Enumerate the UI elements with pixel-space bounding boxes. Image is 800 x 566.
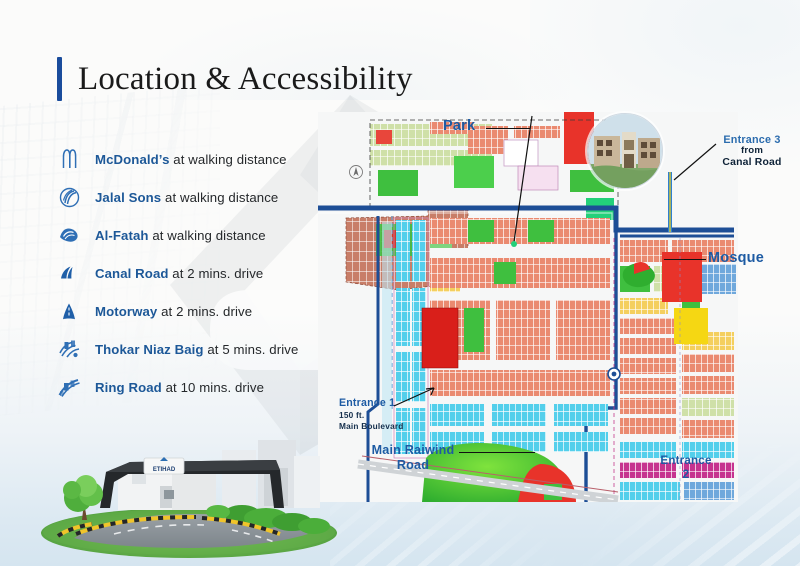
al-fatah-icon [57,223,81,247]
entrance2-line2: 2 [683,468,690,481]
map-label-main-raiwind-road: Main Raiwind Road [371,443,455,473]
page-title: Location & Accessibility [78,61,413,98]
canal-road-icon [57,261,81,285]
slide-canvas: Location & Accessibility McDonald’s at w… [0,0,800,566]
map-label-mosque: Mosque [708,250,764,266]
map-label-entrance-3: Entrance 3 from Canal Road [712,134,792,168]
thokar-niaz-baig-icon [57,337,81,361]
entrance2-line1: Entrance [660,454,711,467]
leader-line-mosque [664,259,706,260]
title-accent-bar [57,57,62,101]
list-item-label: Al-Fatah at walking distance [95,228,266,243]
map-label-park: Park [443,118,475,134]
leader-line-park [486,128,530,129]
list-item-label: Canal Road at 2 mins. drive [95,266,263,281]
entrance1-sub-line2: Main Boulevard [339,422,404,432]
leader-line-entrance-1 [394,386,438,412]
entrance-gate-render: ETIHAD [36,438,342,560]
motorway-icon [57,299,81,323]
ring-road-icon [57,375,81,399]
jalal-sons-icon [57,185,81,209]
mcdonalds-icon [57,147,81,171]
entrance3-line2: from [712,146,792,157]
page-header: Location & Accessibility [57,57,413,101]
list-item-label: Ring Road at 10 mins. drive [95,380,264,395]
list-item-label: Motorway at 2 mins. drive [95,304,252,319]
list-item-label: Jalal Sons at walking distance [95,190,278,205]
map-label-entrance-2: Entrance 2 [655,454,717,482]
entrance1-line1: Entrance 1 [339,397,395,409]
leader-line-entrance-3 [672,140,720,182]
project-photo-inset [587,113,663,189]
entrance3-line3: Canal Road [712,157,792,169]
entrance1-sub-line1: 150 ft. [339,411,404,421]
svg-text:ETIHAD: ETIHAD [153,467,176,473]
leader-line-raiwind [459,452,535,453]
list-item-label: Thokar Niaz Baig at 5 mins. drive [95,342,298,357]
list-item-label: McDonald’s at walking distance [95,152,287,167]
